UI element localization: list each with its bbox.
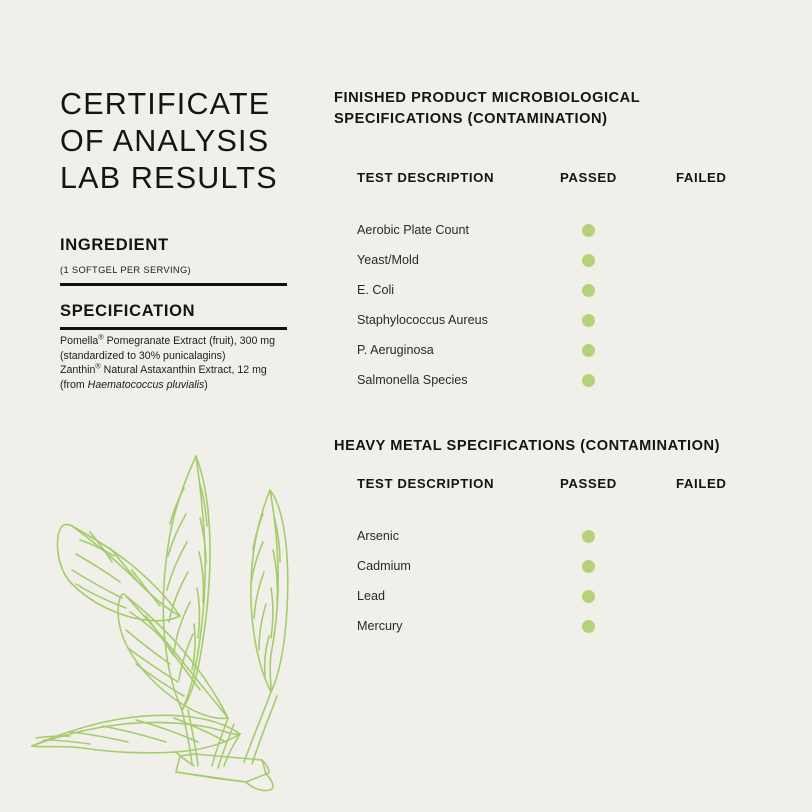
- certificate-page: CERTIFICATE OF ANALYSIS LAB RESULTS INGR…: [0, 0, 812, 812]
- test-description-label: Staphylococcus Aureus: [357, 312, 488, 328]
- table-body: Aerobic Plate CountYeast/MoldE. ColiStap…: [334, 222, 774, 402]
- table-row: Aerobic Plate Count: [334, 222, 774, 252]
- table-row: E. Coli: [334, 282, 774, 312]
- specification-heading: SPECIFICATION: [60, 302, 195, 321]
- column-header-passed: PASSED: [560, 476, 617, 491]
- column-header-description: TEST DESCRIPTION: [357, 476, 494, 491]
- test-description-label: Cadmium: [357, 558, 411, 574]
- specification-list: Pomella® Pomegranate Extract (fruit), 30…: [60, 334, 275, 392]
- plant-illustration-icon: [14, 448, 324, 798]
- specification-line-text: Pomegranate Extract (fruit), 300 mg: [104, 335, 275, 347]
- specification-species-name: Haematococcus pluvialis: [88, 379, 205, 391]
- table-row: Staphylococcus Aureus: [334, 312, 774, 342]
- table-row: Cadmium: [334, 558, 774, 588]
- table-row: Salmonella Species: [334, 372, 774, 402]
- test-description-label: Lead: [357, 588, 385, 604]
- table-row: Arsenic: [334, 528, 774, 558]
- specification-line-text: (from: [60, 379, 88, 391]
- status-dot-passed: [582, 620, 595, 633]
- specification-line-text: Pomella: [60, 335, 98, 347]
- status-dot-passed: [582, 560, 595, 573]
- specification-line-text: (standardized to 30% punicalagins): [60, 350, 225, 362]
- specification-line-text: ): [204, 379, 208, 391]
- table-header-row: TEST DESCRIPTION PASSED FAILED: [334, 476, 774, 496]
- test-description-label: Yeast/Mold: [357, 252, 419, 268]
- column-header-description: TEST DESCRIPTION: [357, 170, 494, 185]
- status-dot-passed: [582, 590, 595, 603]
- test-description-label: Mercury: [357, 618, 402, 634]
- column-header-failed: FAILED: [676, 476, 727, 491]
- table-row: Mercury: [334, 618, 774, 648]
- divider-rule-specification: [60, 327, 287, 330]
- status-dot-passed: [582, 344, 595, 357]
- table-row: P. Aeruginosa: [334, 342, 774, 372]
- table-section-heavy-metal: HEAVY METAL SPECIFICATIONS (CONTAMINATIO…: [334, 436, 774, 648]
- table-title: FINISHED PRODUCT MICROBIOLOGICAL SPECIFI…: [334, 88, 774, 130]
- specification-line: (standardized to 30% punicalagins): [60, 349, 275, 364]
- table-row: Lead: [334, 588, 774, 618]
- specification-line: Pomella® Pomegranate Extract (fruit), 30…: [60, 334, 275, 349]
- test-description-label: P. Aeruginosa: [357, 342, 434, 358]
- status-dot-passed: [582, 254, 595, 267]
- test-description-label: Salmonella Species: [357, 372, 468, 388]
- specification-line: Zanthin® Natural Astaxanthin Extract, 12…: [60, 363, 275, 378]
- table-header-row: TEST DESCRIPTION PASSED FAILED: [334, 170, 774, 190]
- column-header-passed: PASSED: [560, 170, 617, 185]
- table-row: Yeast/Mold: [334, 252, 774, 282]
- status-dot-passed: [582, 530, 595, 543]
- table-body: ArsenicCadmiumLeadMercury: [334, 528, 774, 648]
- ingredient-heading: INGREDIENT: [60, 236, 169, 255]
- test-description-label: Arsenic: [357, 528, 399, 544]
- status-dot-passed: [582, 224, 595, 237]
- page-title: CERTIFICATE OF ANALYSIS LAB RESULTS: [60, 86, 320, 197]
- table-title: HEAVY METAL SPECIFICATIONS (CONTAMINATIO…: [334, 436, 774, 457]
- ingredient-subheading: (1 SOFTGEL PER SERVING): [60, 265, 191, 275]
- divider-rule-ingredient: [60, 283, 287, 286]
- test-description-label: Aerobic Plate Count: [357, 222, 469, 238]
- column-header-failed: FAILED: [676, 170, 727, 185]
- table-section-microbiological: FINISHED PRODUCT MICROBIOLOGICAL SPECIFI…: [334, 88, 774, 402]
- specification-line-text: Zanthin: [60, 364, 95, 376]
- status-dot-passed: [582, 284, 595, 297]
- specification-line-text: Natural Astaxanthin Extract, 12 mg: [101, 364, 267, 376]
- status-dot-passed: [582, 314, 595, 327]
- test-description-label: E. Coli: [357, 282, 394, 298]
- specification-line: (from Haematococcus pluvialis): [60, 378, 275, 393]
- status-dot-passed: [582, 374, 595, 387]
